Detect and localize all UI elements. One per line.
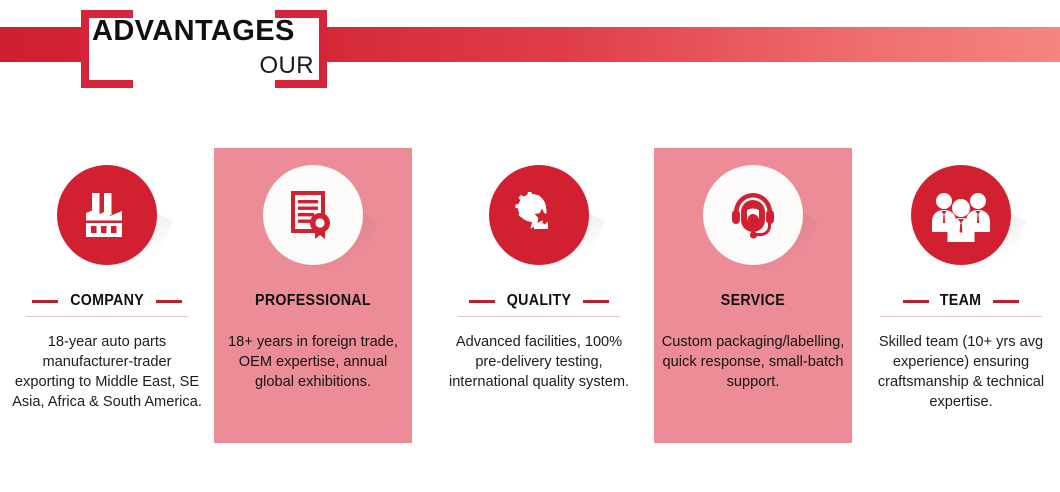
title-dash-right [583,300,609,303]
header-banner: ADVANTAGES OUR [0,0,1060,110]
title-dash-right [993,300,1019,303]
icon-circle [489,165,589,265]
card-title: SERVICE [721,292,785,310]
card-body-text: 18+ years in foreign trade, OEM expertis… [218,332,408,392]
headset-agent-icon [724,186,782,244]
three-people-icon [931,187,991,243]
icon-circle-wrap [489,165,589,265]
icon-circle [263,165,363,265]
card-title-row: QUALITY [440,288,638,314]
advantage-card-row: COMPANY 18-year auto parts manufacturer-… [0,140,1060,492]
title-dash-left [32,300,58,303]
certificate-award-icon [285,187,341,243]
card-body-text: Advanced facilities, 100% pre-delivery t… [444,332,634,392]
title-underline [458,316,620,317]
icon-circle-wrap [263,165,363,265]
advantage-card-professional[interactable]: PROFESSIONAL 18+ years in foreign trade,… [214,140,412,452]
icon-circle [911,165,1011,265]
advantage-card-team[interactable]: TEAM Skilled team (10+ yrs avg experienc… [862,140,1060,452]
page-subtitle: OUR [92,54,314,78]
icon-circle-wrap [57,165,157,265]
advantage-card-quality[interactable]: QUALITY Advanced facilities, 100% pre-de… [440,140,638,452]
title-dash-right [156,300,182,303]
card-title: TEAM [940,292,982,310]
card-title-row: SERVICE [654,288,852,314]
advantages-infographic: ADVANTAGES OUR [0,0,1060,492]
advantage-card-company[interactable]: COMPANY 18-year auto parts manufacturer-… [8,140,206,452]
card-body-text: Custom packaging/labelling, quick respon… [658,332,848,392]
card-title: PROFESSIONAL [255,292,371,310]
card-title: QUALITY [507,292,572,310]
card-title: COMPANY [70,292,144,310]
card-body-text: Skilled team (10+ yrs avg experience) en… [866,332,1056,412]
icon-circle [57,165,157,265]
icon-circle-wrap [911,165,1011,265]
card-title-row: PROFESSIONAL [214,288,412,314]
title-dash-left [469,300,495,303]
card-title-row: COMPANY [8,288,206,314]
advantage-card-service[interactable]: SERVICE Custom packaging/labelling, quic… [654,140,852,452]
title-underline [880,316,1042,317]
factory-icon [78,186,136,244]
gear-star-badge-icon [510,186,568,244]
title-underline [26,316,188,317]
icon-circle [703,165,803,265]
page-title: ADVANTAGES [92,17,306,46]
card-title-row: TEAM [862,288,1060,314]
card-body-text: 18-year auto parts manufacturer-trader e… [12,332,202,412]
title-dash-left [903,300,929,303]
icon-circle-wrap [703,165,803,265]
